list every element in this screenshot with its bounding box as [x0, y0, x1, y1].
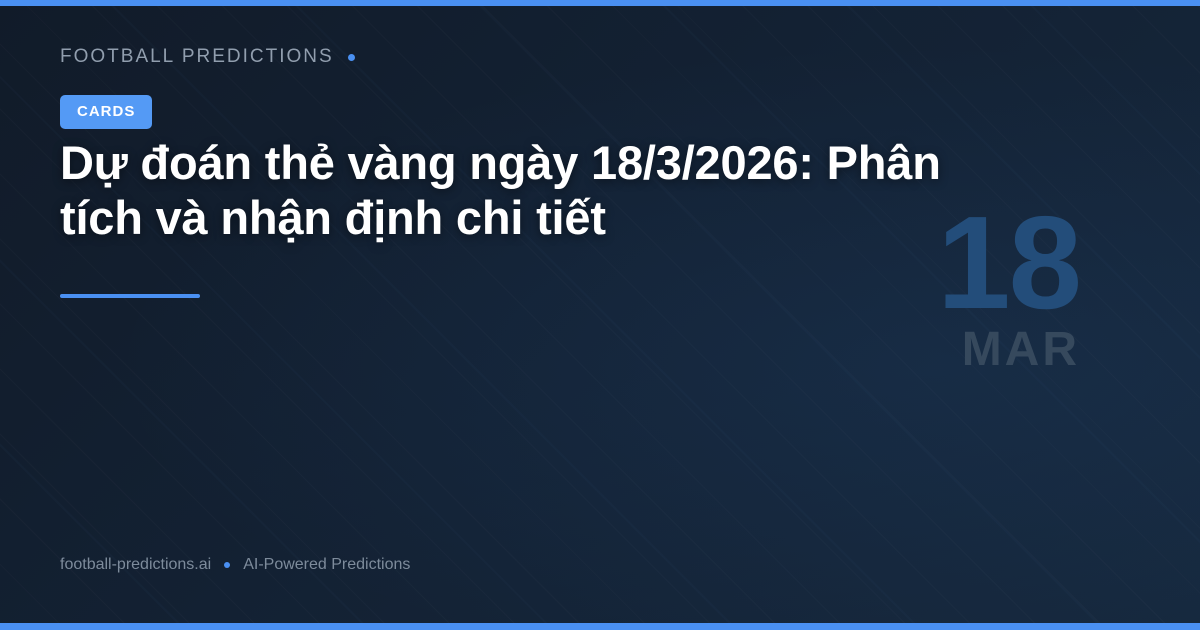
brand-kicker-row: FOOTBALL PREDICTIONS [60, 46, 355, 68]
brand-kicker-label: FOOTBALL PREDICTIONS [60, 46, 334, 68]
page-title: Dự đoán thẻ vàng ngày 18/3/2026: Phân tí… [60, 136, 960, 246]
dot-separator-icon [224, 562, 230, 568]
card-content: FOOTBALL PREDICTIONS CARDS Dự đoán thẻ v… [60, 0, 1140, 630]
dot-separator-icon [348, 54, 355, 61]
social-share-card: FOOTBALL PREDICTIONS CARDS Dự đoán thẻ v… [0, 0, 1200, 630]
date-stamp: 18 MAR [900, 206, 1080, 374]
title-underline-accent [60, 294, 200, 298]
date-day-number: 18 [900, 206, 1080, 320]
footer-site-url[interactable]: football-predictions.ai [60, 556, 211, 574]
category-badge[interactable]: CARDS [60, 95, 152, 129]
footer-tagline: AI-Powered Predictions [243, 556, 410, 574]
date-month-label: MAR [900, 326, 1080, 374]
footer-row: football-predictions.ai AI-Powered Predi… [60, 556, 410, 574]
